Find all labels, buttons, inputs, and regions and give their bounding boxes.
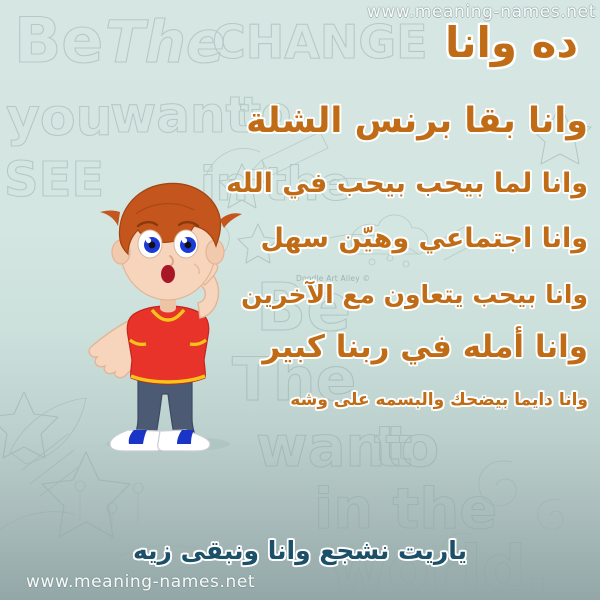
doodle-word-be: Be	[14, 4, 103, 77]
name-meaning-card: Be The CHANGE you want to SEE in the	[0, 0, 600, 600]
doodle-feather-group	[0, 398, 86, 530]
meaning-line-1: وانا بقا برنس الشلة	[10, 104, 588, 139]
meaning-line-4: وانا بيحب يتعاون مع الآخرين	[10, 282, 588, 307]
meaning-line-5: وانا أمله في ربنا كبير	[10, 332, 588, 363]
doodle-word-in-the-lower: in the	[314, 477, 497, 542]
footer-message: ياريت نشجع وانا ونبقى زيه	[0, 538, 600, 563]
doodle-word-change: CHANGE	[212, 15, 428, 69]
doodle-word-to-lower: to	[374, 415, 439, 480]
doodle-pin-group	[75, 481, 143, 539]
watermark-bottom: www.meaning-names.net	[26, 572, 255, 592]
meaning-lines: وانا بقا برنس الشلة وانا لما بيحب بيحب ف…	[10, 104, 588, 409]
meaning-line-6: وانا دايما بيضحك والبسمه على وشه	[10, 392, 588, 409]
meaning-line-2: وانا لما بيحب بيحب في الله	[10, 170, 588, 197]
doodle-word-the: The	[105, 8, 225, 76]
doodle-word-want-lower: want	[256, 415, 412, 480]
page-title: ده وانا	[445, 22, 578, 64]
meaning-line-3: وانا اجتماعي وهيّن سهل	[10, 225, 588, 252]
